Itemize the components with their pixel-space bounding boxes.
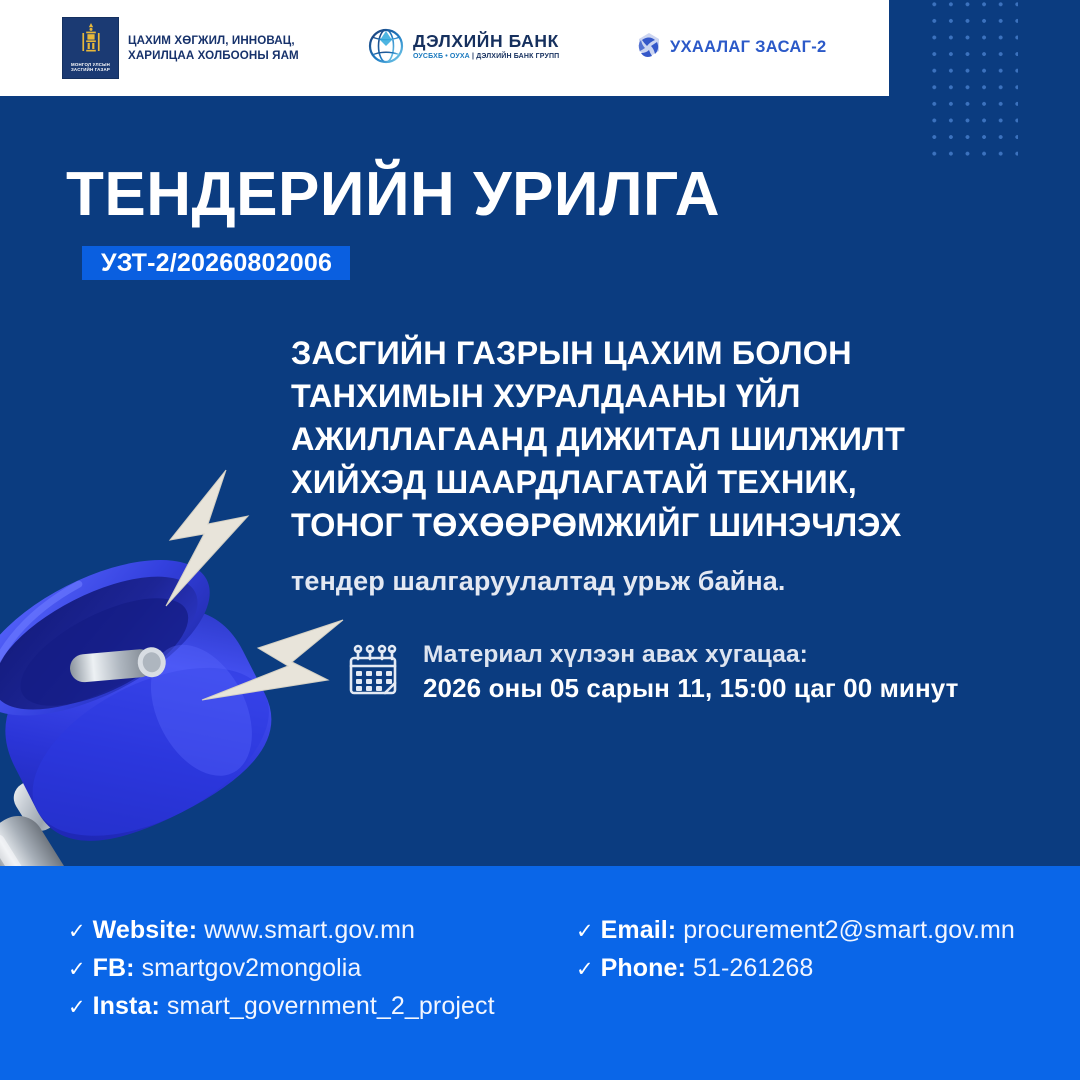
logo-smart-gov: УХААЛАГ ЗАСАГ-2 xyxy=(632,31,827,63)
globe-icon xyxy=(366,26,406,66)
footer-item-instagram[interactable]: ✓ Insta: smart_government_2_project xyxy=(68,992,495,1021)
footer-value[interactable]: smart_government_2_project xyxy=(167,992,495,1021)
deadline-block: Материал хүлээн авах хугацаа: 2026 оны 0… xyxy=(345,638,959,706)
world-bank-sub-left: ОУСБХБ • ОУХА xyxy=(413,53,470,60)
footer-column-right: ✓ Email: procurement2@smart.gov.mn ✓ Pho… xyxy=(576,916,1015,992)
check-icon: ✓ xyxy=(68,997,86,1018)
tender-code-badge: УЗТ-2/20260802006 xyxy=(82,246,350,280)
footer-label: Website: xyxy=(93,916,198,945)
emblem-caption: МОНГОЛ УЛСЫН ЗАСГИЙН ГАЗАР xyxy=(71,62,110,73)
footer-contact-block: ✓ Website: www.smart.gov.mn ✓ FB: smartg… xyxy=(0,866,1080,1080)
mongolia-state-emblem-icon: МОНГОЛ УЛСЫН ЗАСГИЙН ГАЗАР xyxy=(62,17,119,79)
footer-label: Phone: xyxy=(601,954,686,983)
deadline-value: 2026 оны 05 сарын 11, 15:00 цаг 00 минут xyxy=(423,671,959,706)
footer-label: Email: xyxy=(601,916,677,945)
dot-grid-decoration xyxy=(926,0,1018,156)
smart-gov-mark-icon xyxy=(632,31,666,63)
poster-canvas: МОНГОЛ УЛСЫН ЗАСГИЙН ГАЗАР ЦАХИМ ХӨГЖИЛ,… xyxy=(0,0,1080,1080)
world-bank-title: ДЭЛХИЙН БАНК xyxy=(413,32,559,51)
header-logo-row: МОНГОЛ УЛСЫН ЗАСГИЙН ГАЗАР ЦАХИМ ХӨГЖИЛ,… xyxy=(0,0,889,96)
logo-world-bank: ДЭЛХИЙН БАНК ОУСБХБ • ОУХА | ДЭЛХИЙН БАН… xyxy=(366,26,559,66)
smart-gov-title: УХААЛАГ ЗАСАГ-2 xyxy=(670,38,827,57)
check-icon: ✓ xyxy=(576,921,594,942)
page-title: ТЕНДЕРИЙН УРИЛГА xyxy=(66,160,720,230)
world-bank-subtitle: ОУСБХБ • ОУХА | ДЭЛХИЙН БАНК ГРУПП xyxy=(413,52,559,61)
main-text-block: ЗАСГИЙН ГАЗРЫН ЦАХИМ БОЛОН ТАНХИМЫН ХУРА… xyxy=(291,332,991,601)
deadline-label: Материал хүлээн авах хугацаа: xyxy=(423,638,959,671)
footer-value[interactable]: procurement2@smart.gov.mn xyxy=(683,916,1015,945)
tender-subject: ЗАСГИЙН ГАЗРЫН ЦАХИМ БОЛОН ТАНХИМЫН ХУРА… xyxy=(291,332,991,547)
calendar-icon xyxy=(345,641,401,704)
footer-value[interactable]: 51-261268 xyxy=(693,954,813,983)
logo-ministry: МОНГОЛ УЛСЫН ЗАСГИЙН ГАЗАР ЦАХИМ ХӨГЖИЛ,… xyxy=(62,17,299,79)
footer-item-email[interactable]: ✓ Email: procurement2@smart.gov.mn xyxy=(576,916,1015,945)
tender-invite-line: тендер шалгаруулалтад урьж байна. xyxy=(291,561,991,601)
footer-item-website[interactable]: ✓ Website: www.smart.gov.mn xyxy=(68,916,495,945)
soyombo-icon xyxy=(78,21,104,61)
world-bank-sub-divider: | xyxy=(472,53,474,60)
footer-item-phone[interactable]: ✓ Phone: 51-261268 xyxy=(576,954,1015,983)
check-icon: ✓ xyxy=(68,959,86,980)
footer-value[interactable]: smartgov2mongolia xyxy=(142,954,362,983)
check-icon: ✓ xyxy=(68,921,86,942)
footer-item-facebook[interactable]: ✓ FB: smartgov2mongolia xyxy=(68,954,495,983)
world-bank-sub-right: ДЭЛХИЙН БАНК ГРУПП xyxy=(476,53,559,60)
footer-column-left: ✓ Website: www.smart.gov.mn ✓ FB: smartg… xyxy=(68,916,495,1030)
footer-label: Insta: xyxy=(93,992,160,1021)
ministry-name-label: ЦАХИМ ХӨГЖИЛ, ИННОВАЦ, ХАРИЛЦАА ХОЛБООНЫ… xyxy=(128,33,299,63)
check-icon: ✓ xyxy=(576,959,594,980)
footer-label: FB: xyxy=(93,954,135,983)
footer-value[interactable]: www.smart.gov.mn xyxy=(204,916,415,945)
